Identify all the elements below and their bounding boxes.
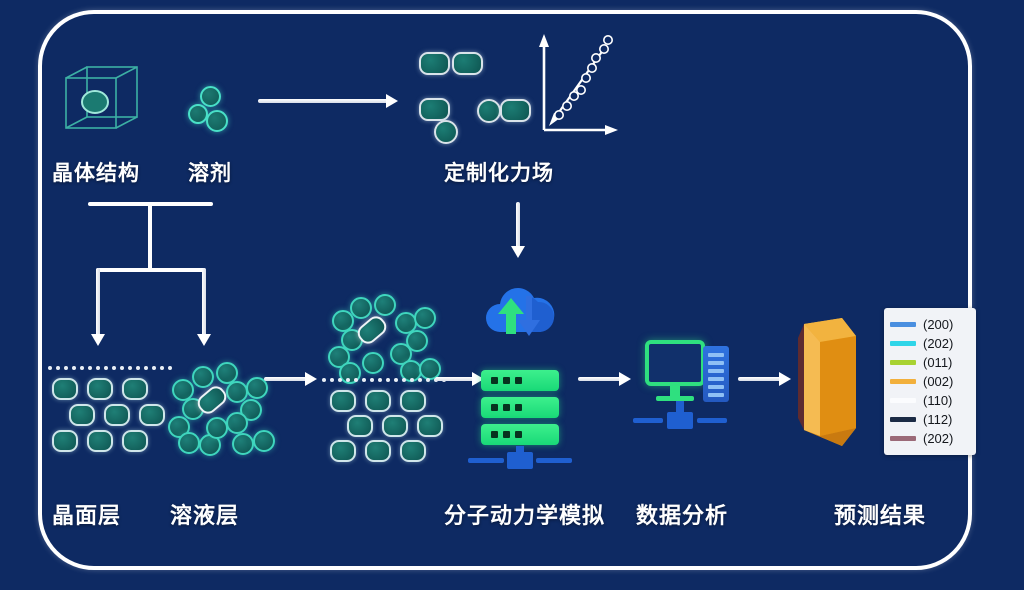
legend-row: (002) [890,372,971,391]
legend-row: (202) [890,334,971,353]
arrow-md-to-analysis [578,377,622,381]
arrow-system-to-md [435,377,475,381]
legend-color-swatch [890,322,916,327]
diagram-canvas: 晶体结构 溶剂 [0,0,1024,590]
cloud-sync-icon [480,282,560,344]
label-data-analysis: 数据分析 [636,498,728,530]
legend-color-swatch [890,379,916,384]
label-solution-layer: 溶液层 [170,498,239,530]
label-solvent: 溶剂 [188,157,232,187]
arrow-solvent-to-forcefield [258,99,389,103]
label-prediction-result: 预测结果 [834,498,926,530]
label-md-simulation: 分子动力学模拟 [444,498,605,530]
label-crystal-structure: 晶体结构 [52,157,140,187]
hexagonal-crystal-prism-icon [790,318,860,448]
server-rack-icon [481,370,559,446]
arrow-forcefield-down [516,202,520,248]
legend-label: (202) [923,336,953,351]
monitor-and-tower-icon [645,340,735,450]
legend-label: (112) [923,412,952,427]
arrow-layers-to-system [264,377,308,381]
legend-color-swatch [890,360,916,365]
legend-row: (202) [890,429,971,448]
wireframe-cube-icon [62,62,142,142]
correlation-scatter-plot-icon [530,30,620,140]
legend-row: (200) [890,315,971,334]
legend-color-swatch [890,398,916,403]
label-force-field: 定制化力场 [444,157,554,187]
legend-color-swatch [890,417,916,422]
legend-label: (200) [923,317,953,332]
legend-row: (011) [890,353,971,372]
miller-index-legend: (200)(202)(011)(002)(110)(112)(202) [884,308,976,455]
arrow-analysis-to-result [738,377,782,381]
legend-label: (202) [923,431,953,446]
legend-row: (112) [890,410,971,429]
legend-label: (110) [923,393,952,408]
label-crystal-face-layer: 晶面层 [52,498,121,530]
legend-color-swatch [890,436,916,441]
legend-label: (011) [923,355,952,370]
legend-color-swatch [890,341,916,346]
legend-label: (002) [923,374,953,389]
legend-row: (110) [890,391,971,410]
